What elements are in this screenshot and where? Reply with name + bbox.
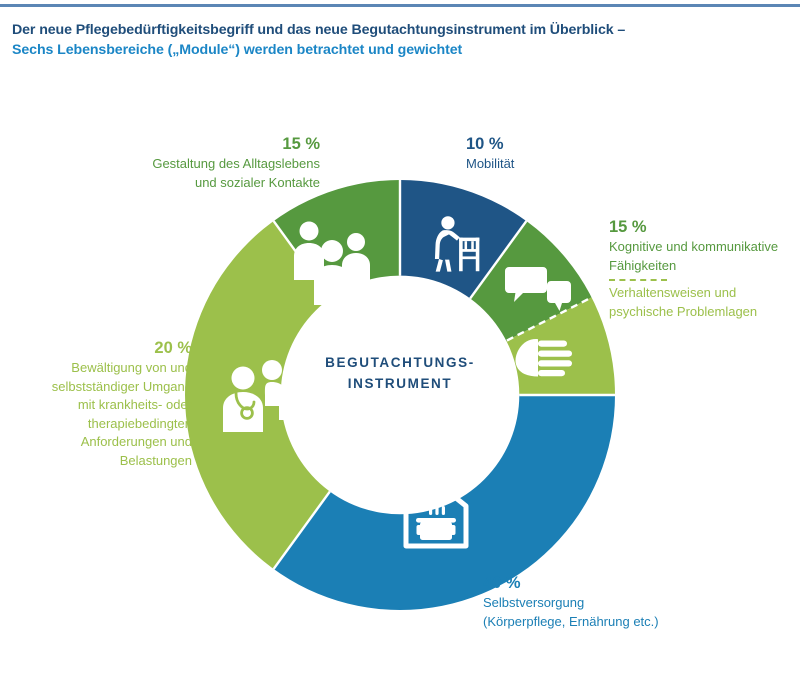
callout-selbstversorgung: 40 % Selbstversorgung (Körperpflege, Ern… <box>483 572 783 631</box>
callout-kognitive-line-1: Kognitive und kommunikative <box>609 238 799 257</box>
callout-selbstversorgung-percent: 40 % <box>483 572 783 594</box>
callout-mobilitaet-percent: 10 % <box>466 133 666 155</box>
callout-verhaltensweisen-line-2: psychische Problemlagen <box>609 303 799 322</box>
callout-bewaeltigung-percent: 20 % <box>12 337 192 359</box>
callout-selbstversorgung-line-1: Selbstversorgung <box>483 594 783 613</box>
callout-alltagsleben-line-1: Gestaltung des Alltagslebens <box>60 155 320 174</box>
callout-alltagsleben-percent: 15 % <box>60 133 320 155</box>
callout-kognitive-line-2: Fähigkeiten <box>609 257 799 276</box>
callout-mobilitaet-line-1: Mobilität <box>466 155 666 174</box>
donut-chart-svg <box>185 180 615 610</box>
callout-kognitive-faehigkeiten: 15 % Kognitive und kommunikative Fähigke… <box>609 216 799 321</box>
callout-bewaeltigung-line-6: Belastungen <box>12 452 192 471</box>
callout-selbstversorgung-line-2: (Körperpflege, Ernährung etc.) <box>483 613 783 632</box>
callout-dashed-separator <box>609 279 667 281</box>
donut-chart: BEGUTACHTUNGS- INSTRUMENT 15 % Gestaltun… <box>0 0 800 691</box>
callout-mobilitaet: 10 % Mobilität <box>466 133 666 174</box>
callout-kognitive-percent: 15 % <box>609 216 799 238</box>
callout-bewaeltigung: 20 % Bewältigung von und selbstständiger… <box>12 337 192 470</box>
callout-bewaeltigung-line-3: mit krankheits- oder <box>12 396 192 415</box>
callout-bewaeltigung-line-2: selbstständiger Umgang <box>12 378 192 397</box>
callout-bewaeltigung-line-5: Anforderungen und <box>12 433 192 452</box>
callout-bewaeltigung-line-4: therapiebedingten <box>12 415 192 434</box>
callout-bewaeltigung-line-1: Bewältigung von und <box>12 359 192 378</box>
callout-alltagsleben-line-2: und sozialer Kontakte <box>60 174 320 193</box>
callout-verhaltensweisen-line-1: Verhaltensweisen und <box>609 284 799 303</box>
callout-alltagsleben: 15 % Gestaltung des Alltagslebens und so… <box>60 133 320 192</box>
